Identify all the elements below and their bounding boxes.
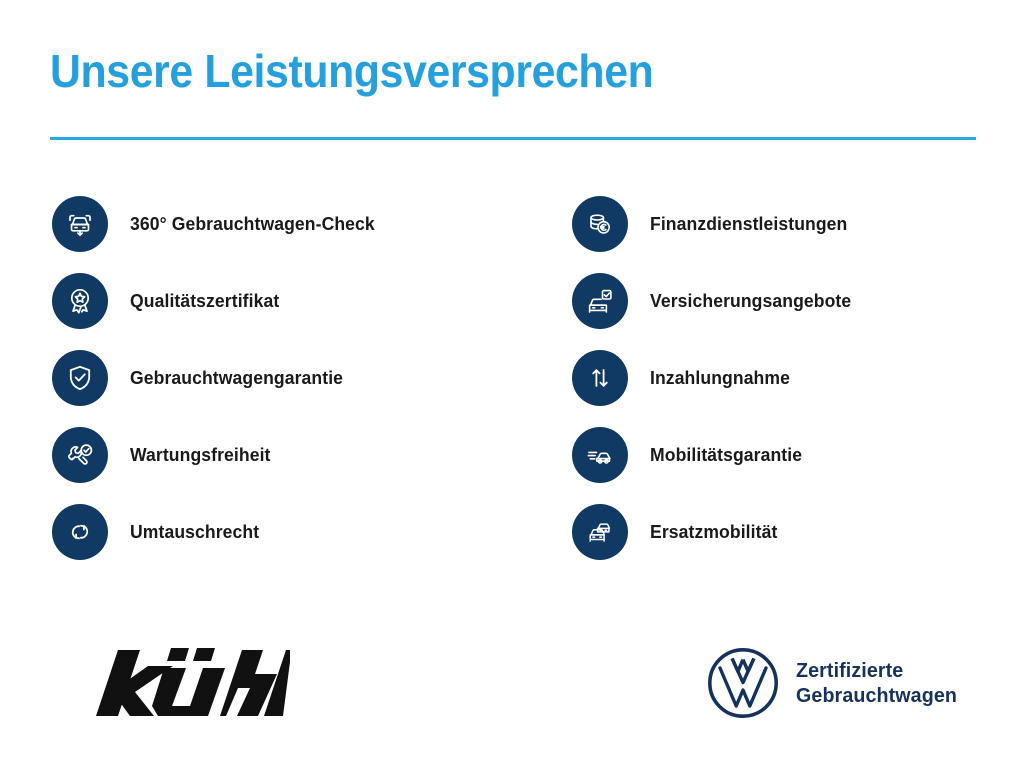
page-title: Unsere Leistungsversprechen bbox=[50, 48, 911, 94]
feature-column-right: Finanzdienstleistungen Versicherungsange… bbox=[572, 196, 1024, 560]
vw-certified-logo: Zertifizierte Gebrauchtwagen bbox=[706, 646, 964, 720]
feature-item-qualitaetszertifikat[interactable]: Qualitätszertifikat bbox=[52, 273, 512, 329]
kuehl-wordmark-shape bbox=[78, 644, 290, 728]
page-header: Unsere Leistungsversprechen bbox=[50, 48, 976, 94]
feature-label: Gebrauchtwagengarantie bbox=[130, 367, 343, 389]
feature-label: Mobilitätsgarantie bbox=[650, 444, 802, 466]
car-motion-icon bbox=[572, 427, 628, 483]
feature-item-versicherungsangebote[interactable]: Versicherungsangebote bbox=[572, 273, 1024, 329]
two-cars-icon bbox=[572, 504, 628, 560]
dealer-logo-kuehl bbox=[78, 644, 290, 733]
feature-item-gebrauchtwagengarantie[interactable]: Gebrauchtwagengarantie bbox=[52, 350, 512, 406]
feature-label: Ersatzmobilität bbox=[650, 521, 777, 543]
feature-item-wartungsfreiheit[interactable]: Wartungsfreiheit bbox=[52, 427, 512, 483]
coins-euro-icon bbox=[572, 196, 628, 252]
volkswagen-roundel-icon bbox=[706, 646, 780, 720]
vw-wordmark-line-2: Gebrauchtwagen bbox=[796, 683, 957, 708]
feature-label: Umtauschrecht bbox=[130, 521, 259, 543]
feature-label: 360° Gebrauchtwagen-Check bbox=[130, 213, 375, 235]
footer-logos: Zertifizierte Gebrauchtwagen bbox=[0, 630, 1024, 750]
feature-item-ersatzmobilitaet[interactable]: Ersatzmobilität bbox=[572, 504, 1024, 560]
feature-item-finanzdienstleistungen[interactable]: Finanzdienstleistungen bbox=[572, 196, 1024, 252]
exchange-arrows-icon bbox=[52, 504, 108, 560]
feature-item-umtauschrecht[interactable]: Umtauschrecht bbox=[52, 504, 512, 560]
car-inspection-icon bbox=[52, 196, 108, 252]
shield-check-icon bbox=[52, 350, 108, 406]
wrench-check-icon bbox=[52, 427, 108, 483]
feature-label: Versicherungsangebote bbox=[650, 290, 851, 312]
up-down-arrows-icon bbox=[572, 350, 628, 406]
slide-canvas: Unsere Leistungsversprechen 360° Gebrauc… bbox=[0, 0, 1024, 768]
feature-item-mobilitaetsgarantie[interactable]: Mobilitätsgarantie bbox=[572, 427, 1024, 483]
award-rosette-icon bbox=[52, 273, 108, 329]
feature-label: Finanzdienstleistungen bbox=[650, 213, 847, 235]
feature-item-gebrauchtwagen-check[interactable]: 360° Gebrauchtwagen-Check bbox=[52, 196, 512, 252]
feature-column-left: 360° Gebrauchtwagen-Check Qualitätszerti… bbox=[52, 196, 512, 560]
feature-label: Wartungsfreiheit bbox=[130, 444, 271, 466]
feature-label: Inzahlungnahme bbox=[650, 367, 790, 389]
title-divider bbox=[50, 137, 976, 140]
car-checkbox-icon bbox=[572, 273, 628, 329]
feature-label: Qualitätszertifikat bbox=[130, 290, 279, 312]
feature-item-inzahlungnahme[interactable]: Inzahlungnahme bbox=[572, 350, 1024, 406]
vw-wordmark: Zertifizierte Gebrauchtwagen bbox=[796, 658, 957, 708]
vw-wordmark-line-1: Zertifizierte bbox=[796, 658, 957, 683]
